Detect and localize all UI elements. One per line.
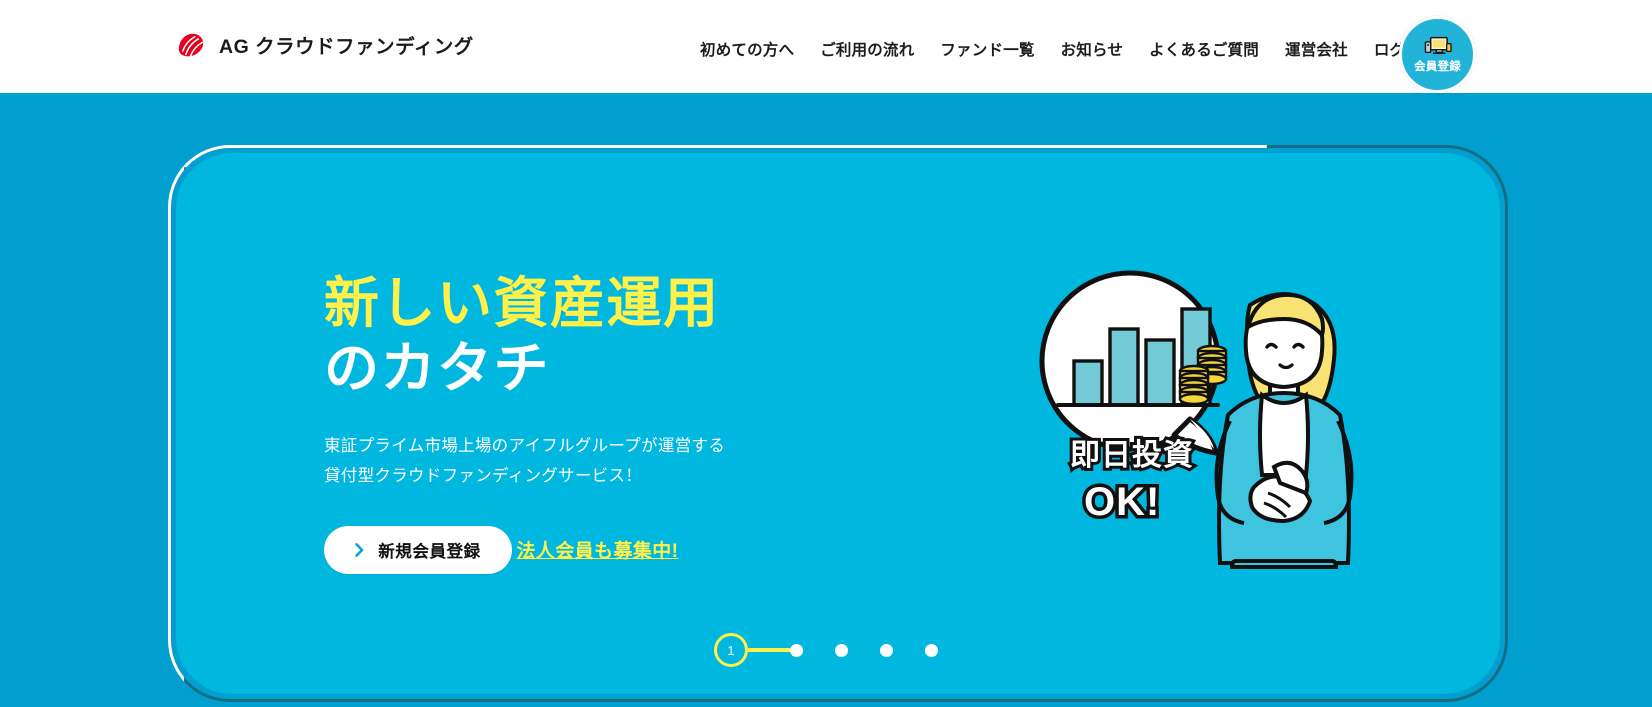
- new-member-registration-button[interactable]: 新規会員登録: [324, 526, 512, 574]
- hero-lead-line1: 東証プライム市場上場のアイフルグループが運営する: [324, 431, 884, 462]
- carousel-dot-2[interactable]: [790, 644, 803, 657]
- hero-headline-line1: 新しい資産運用: [324, 271, 884, 336]
- nav-item-how-it-works[interactable]: ご利用の流れ: [820, 38, 914, 60]
- bar-chart-with-coins-icon: [1042, 273, 1226, 453]
- carousel-pagination: 1: [0, 633, 1652, 667]
- new-member-registration-label: 新規会員登録: [378, 538, 481, 562]
- immediate-investment-badge: 即日投資 OK!: [1070, 439, 1194, 524]
- carousel-dot-4[interactable]: [880, 644, 893, 657]
- site-logo[interactable]: AG クラウドファンディング: [176, 30, 474, 59]
- carousel-dot-5[interactable]: [925, 644, 938, 657]
- hero-carousel: 新しい資産運用 のカタチ 東証プライム市場上場のアイフルグループが運営する 貸付…: [0, 93, 1652, 707]
- hero-copy: 新しい資産運用 のカタチ 東証プライム市場上場のアイフルグループが運営する 貸付…: [324, 271, 884, 574]
- svg-text:OK!: OK!: [1084, 480, 1160, 524]
- ag-flame-mark-icon: [176, 32, 206, 58]
- woman-with-smartphone-illustration: 即日投資 OK!: [1022, 243, 1422, 643]
- site-header: AG クラウドファンディング 初めての方へ ご利用の流れ ファンド一覧 お知らせ…: [0, 0, 1652, 93]
- hero-headline: 新しい資産運用 のカタチ: [324, 271, 884, 401]
- chevron-right-icon: [355, 543, 364, 557]
- brand-name: AG クラウドファンディング: [219, 30, 474, 59]
- member-registration-button[interactable]: 会員登録: [1399, 16, 1476, 93]
- nav-item-beginners[interactable]: 初めての方へ: [700, 38, 794, 60]
- corporate-member-note[interactable]: 法人会員も募集中!: [516, 536, 678, 563]
- desktop-monitor-icon: [1423, 35, 1453, 61]
- carousel-current-slide[interactable]: 1: [714, 633, 748, 667]
- hero-lead-line2: 貸付型クラウドファンディングサービス！: [324, 461, 884, 492]
- hero-headline-line2: のカタチ: [324, 336, 884, 401]
- svg-text:即日投資: 即日投資: [1070, 439, 1194, 472]
- hero-slide-1: 新しい資産運用 のカタチ 東証プライム市場上場のアイフルグループが運営する 貸付…: [176, 153, 1500, 694]
- nav-item-fund-list[interactable]: ファンド一覧: [940, 38, 1034, 60]
- nav-item-company[interactable]: 運営会社: [1285, 38, 1348, 60]
- member-registration-label: 会員登録: [1414, 62, 1461, 74]
- nav-item-faq[interactable]: よくあるご質問: [1149, 38, 1259, 60]
- main-navigation: 初めての方へ ご利用の流れ ファンド一覧 お知らせ よくあるご質問 運営会社 ロ…: [700, 38, 1437, 60]
- carousel-progress-track: [748, 648, 790, 652]
- hero-lead: 東証プライム市場上場のアイフルグループが運営する 貸付型クラウドファンディングサ…: [324, 431, 884, 492]
- nav-item-news[interactable]: お知らせ: [1061, 38, 1124, 60]
- carousel-dot-3[interactable]: [835, 644, 848, 657]
